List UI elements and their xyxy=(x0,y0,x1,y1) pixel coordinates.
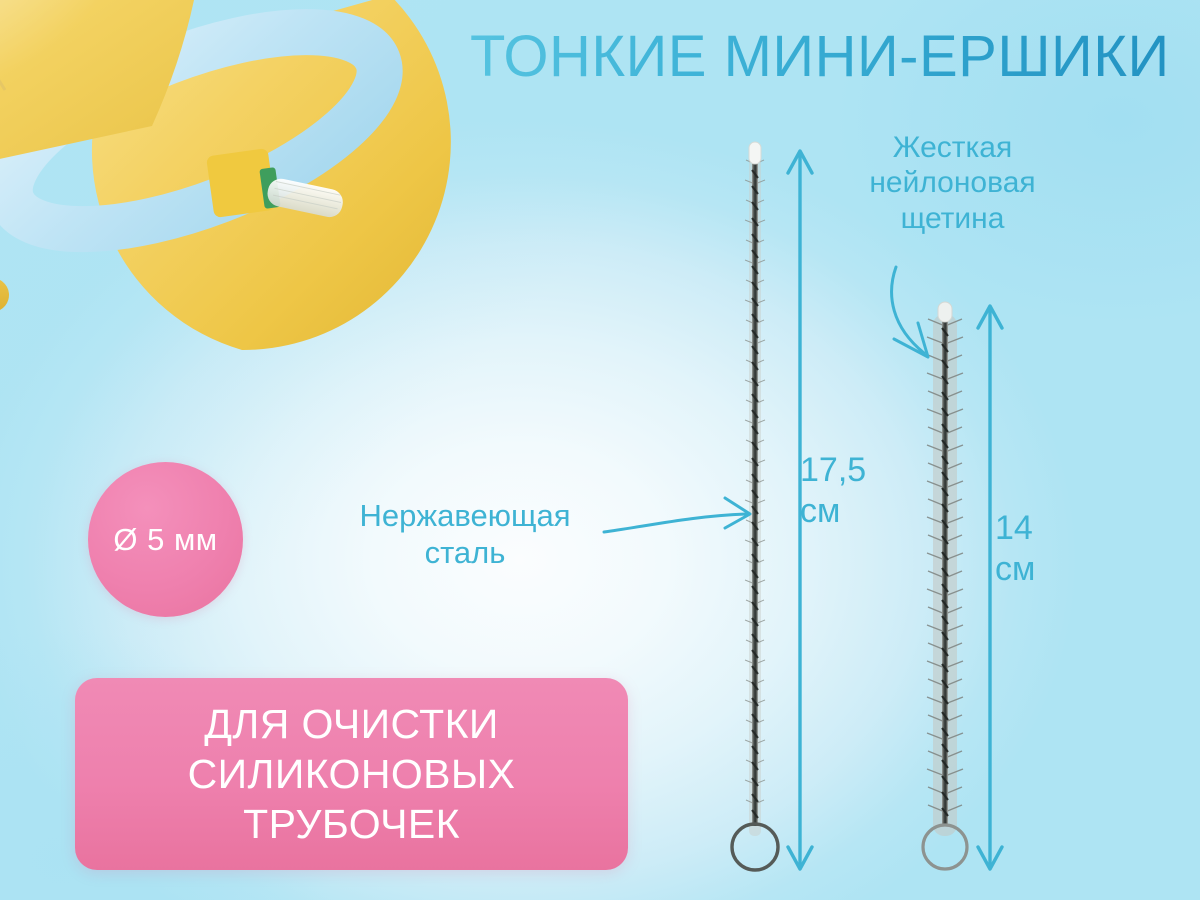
pointer-arrow-steel xyxy=(600,470,780,550)
page-title: ТОНКИЕ МИНИ-ЕРШИКИ xyxy=(470,28,1180,86)
pointer-arrow-bristle xyxy=(880,265,990,375)
label-nylon-bristle-line3: щетина xyxy=(845,201,1060,236)
measurement-label-long: 17,5 см xyxy=(800,450,910,533)
label-stainless-steel-line1: Нержавеющая xyxy=(315,498,615,535)
measurement-value-short: 14 xyxy=(995,508,1095,549)
usage-banner-text: ДЛЯ ОЧИСТКИ СИЛИКОНОВЫХ ТРУБОЧЕК xyxy=(188,699,516,849)
usage-banner-line2: СИЛИКОНОВЫХ xyxy=(188,751,516,797)
usage-banner-line3: ТРУБОЧЕК xyxy=(243,801,460,847)
diameter-badge-text: Ø 5 мм xyxy=(113,522,217,558)
usage-banner-line1: ДЛЯ ОЧИСТКИ xyxy=(204,701,499,747)
label-stainless-steel: Нержавеющая сталь xyxy=(315,498,615,571)
measurement-value-long: 17,5 xyxy=(800,450,910,491)
label-nylon-bristle-line2: нейлоновая xyxy=(845,165,1060,200)
measurement-unit-short: см xyxy=(995,549,1095,590)
infographic-canvas: 2x1 ТОНКИЕ МИНИ-ЕРШИКИ xyxy=(0,0,1200,900)
measurement-unit-long: см xyxy=(800,491,910,532)
label-nylon-bristle: Жесткая нейлоновая щетина xyxy=(845,130,1060,236)
measurement-label-short: 14 см xyxy=(995,508,1095,591)
diameter-badge: Ø 5 мм xyxy=(88,462,243,617)
label-stainless-steel-line2: сталь xyxy=(315,535,615,572)
product-photo-sippy-cup: 2x1 xyxy=(0,0,530,500)
usage-banner: ДЛЯ ОЧИСТКИ СИЛИКОНОВЫХ ТРУБОЧЕК xyxy=(75,678,628,870)
label-nylon-bristle-line1: Жесткая xyxy=(845,130,1060,165)
brush-long-tip xyxy=(749,142,761,164)
